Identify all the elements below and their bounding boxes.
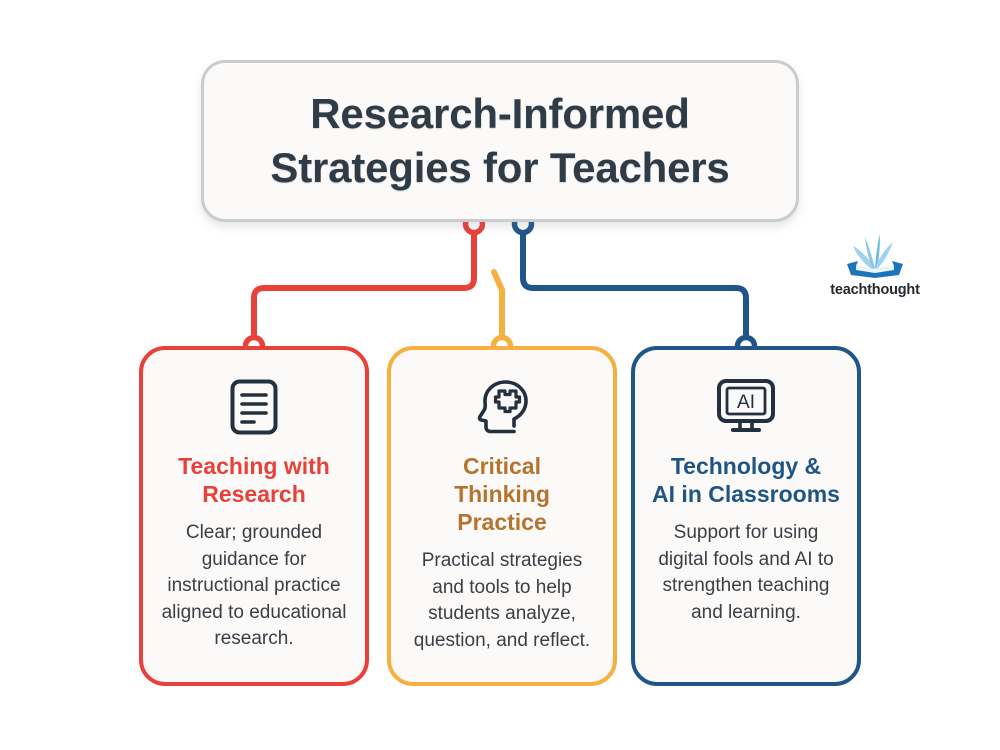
card-heading-line-1: Teaching with: [178, 453, 330, 479]
page-title: Research-Informed Strategies for Teacher…: [254, 87, 745, 195]
card-heading: Teaching with Research: [178, 452, 330, 508]
connector-path-red: [254, 224, 474, 346]
monitor-ai-icon: AI: [716, 376, 776, 438]
card-teaching-with-research[interactable]: Teaching with Research Clear; grounded g…: [139, 346, 369, 686]
card-critical-thinking-practice[interactable]: Critical Thinking Practice Practical str…: [387, 346, 617, 686]
teachthought-logo[interactable]: teachthought: [815, 228, 935, 308]
card-heading-line-1: Critical: [463, 453, 541, 479]
connector-path-blue: [523, 224, 746, 346]
card-heading-line-2: AI in Classrooms: [652, 481, 840, 507]
infographic-canvas: Research-Informed Strategies for Teacher…: [0, 0, 1000, 750]
card-body-text: Support for using digital fools and AI t…: [649, 520, 843, 626]
card-heading: Technology & AI in Classrooms: [652, 452, 840, 508]
main-title-box: Research-Informed Strategies for Teacher…: [201, 60, 799, 222]
card-body-text: Practical strategies and tools to help s…: [405, 548, 599, 654]
head-brain-gear-icon: [473, 376, 531, 438]
connector-path-amber: [494, 272, 502, 346]
logo-wordmark: teachthought: [830, 282, 919, 298]
title-line-1: Research-Informed: [310, 90, 689, 137]
title-line-2: Strategies for Teachers: [270, 144, 729, 191]
card-technology-ai-in-classrooms[interactable]: AI Technology & AI in Classrooms Support…: [631, 346, 861, 686]
card-body-text: Clear; grounded guidance for instruction…: [157, 520, 351, 653]
card-heading-line-3: Practice: [457, 509, 547, 535]
teachthought-logo-mark: [839, 228, 911, 280]
card-heading: Critical Thinking Practice: [454, 452, 550, 536]
card-heading-line-1: Technology &: [671, 453, 821, 479]
card-heading-line-2: Research: [202, 481, 306, 507]
card-heading-line-2: Thinking: [454, 481, 550, 507]
document-lines-icon: [229, 376, 279, 438]
monitor-screen-label: AI: [737, 392, 755, 413]
